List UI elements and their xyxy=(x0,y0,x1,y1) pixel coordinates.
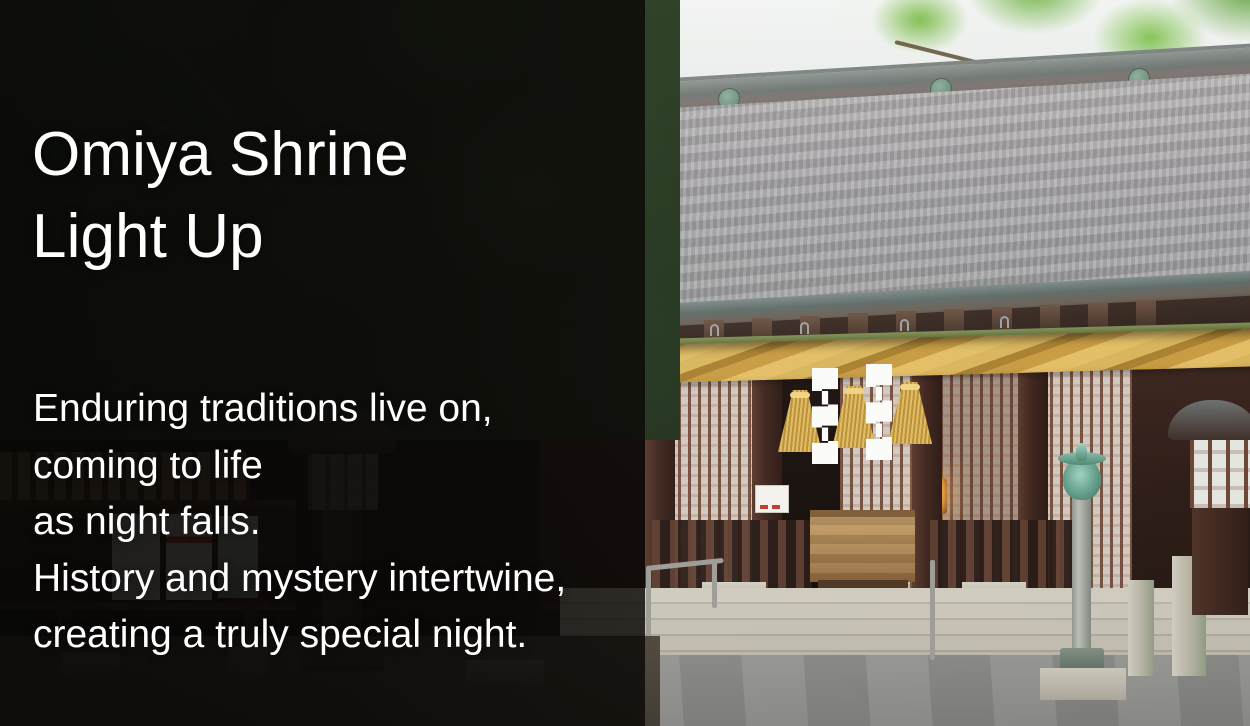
rope-hook-icon xyxy=(1000,316,1009,328)
tassel-band xyxy=(900,384,920,390)
rope-hook-icon xyxy=(800,322,809,334)
bronze-pillar xyxy=(1072,492,1091,664)
inner-fence xyxy=(930,520,1090,590)
sign-stripe xyxy=(772,505,780,509)
ground-stone xyxy=(228,646,268,676)
hero-banner: Omiya Shrine Light Up Enduring tradition… xyxy=(0,0,1250,726)
notice-poster xyxy=(218,516,258,598)
stone-lantern-light-box xyxy=(308,448,378,510)
handrail-post xyxy=(712,560,717,608)
stone-post xyxy=(1128,580,1154,676)
stone-lantern-post xyxy=(322,508,362,650)
sign-stripe xyxy=(760,505,768,509)
offering-box xyxy=(810,510,915,582)
shide-paper-strip xyxy=(812,368,838,464)
rope-hook-icon xyxy=(710,324,719,336)
bronze-finial-tip xyxy=(1076,443,1087,461)
notice-poster xyxy=(112,514,160,600)
shide-paper-strip xyxy=(866,364,892,460)
tassel-band xyxy=(844,388,864,394)
bronze-pillar-stone-footing xyxy=(1040,668,1126,700)
wooden-lantern-post xyxy=(1192,505,1248,615)
ground-stone xyxy=(62,652,120,678)
ground-stone xyxy=(466,660,544,684)
stone-lantern-base xyxy=(300,645,384,671)
rope-hook-icon xyxy=(900,319,909,331)
handrail-post xyxy=(930,560,935,660)
wooden-lantern-body xyxy=(1190,430,1250,508)
shrine-photograph xyxy=(0,0,1250,726)
inner-fence xyxy=(652,520,812,590)
handrail-post xyxy=(646,566,651,644)
notice-poster xyxy=(166,514,212,600)
tassel-band xyxy=(790,392,810,398)
tree-canopy-dark xyxy=(0,0,680,440)
bronze-pillar-base xyxy=(1060,648,1104,670)
